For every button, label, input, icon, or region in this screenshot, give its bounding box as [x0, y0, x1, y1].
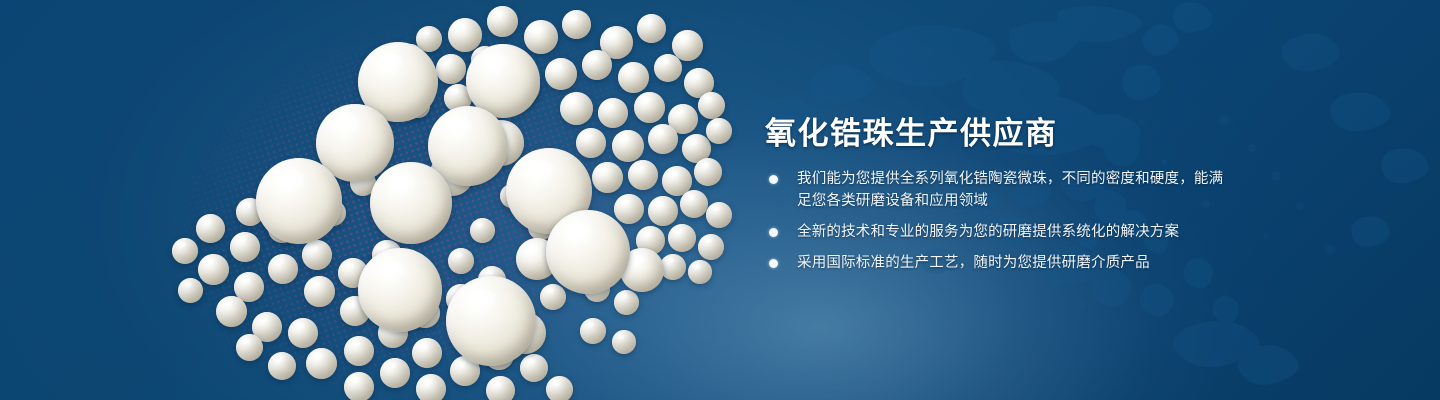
bullet-dot-icon: [769, 175, 778, 184]
feature-list: 我们能为您提供全系列氧化锆陶瓷微珠，不同的密度和硬度，能满足您各类研磨设备和应用…: [765, 168, 1235, 283]
list-item: 采用国际标准的生产工艺，随时为您提供研磨介质产品: [765, 252, 1235, 274]
list-item-label: 采用国际标准的生产工艺，随时为您提供研磨介质产品: [797, 255, 1150, 271]
list-item: 全新的技术和专业的服务为您的研磨提供系统化的解决方案: [765, 221, 1235, 243]
page-title: 氧化锆珠生产供应商: [765, 108, 1058, 153]
halftone-dot-pattern: [68, 0, 813, 400]
list-item-label: 我们能为您提供全系列氧化锆陶瓷微珠，不同的密度和硬度，能满足您各类研磨设备和应用…: [797, 171, 1223, 209]
zirconia-beads-image: [0, 0, 760, 400]
hero-banner: 氧化锆珠生产供应商 我们能为您提供全系列氧化锆陶瓷微珠，不同的密度和硬度，能满足…: [0, 0, 1440, 400]
banner-content: 氧化锆珠生产供应商 我们能为您提供全系列氧化锆陶瓷微珠，不同的密度和硬度，能满足…: [765, 0, 1405, 400]
bullet-dot-icon: [769, 228, 778, 237]
list-item-label: 全新的技术和专业的服务为您的研磨提供系统化的解决方案: [797, 224, 1179, 240]
bullet-dot-icon: [769, 259, 778, 268]
list-item: 我们能为您提供全系列氧化锆陶瓷微珠，不同的密度和硬度，能满足您各类研磨设备和应用…: [765, 168, 1235, 212]
